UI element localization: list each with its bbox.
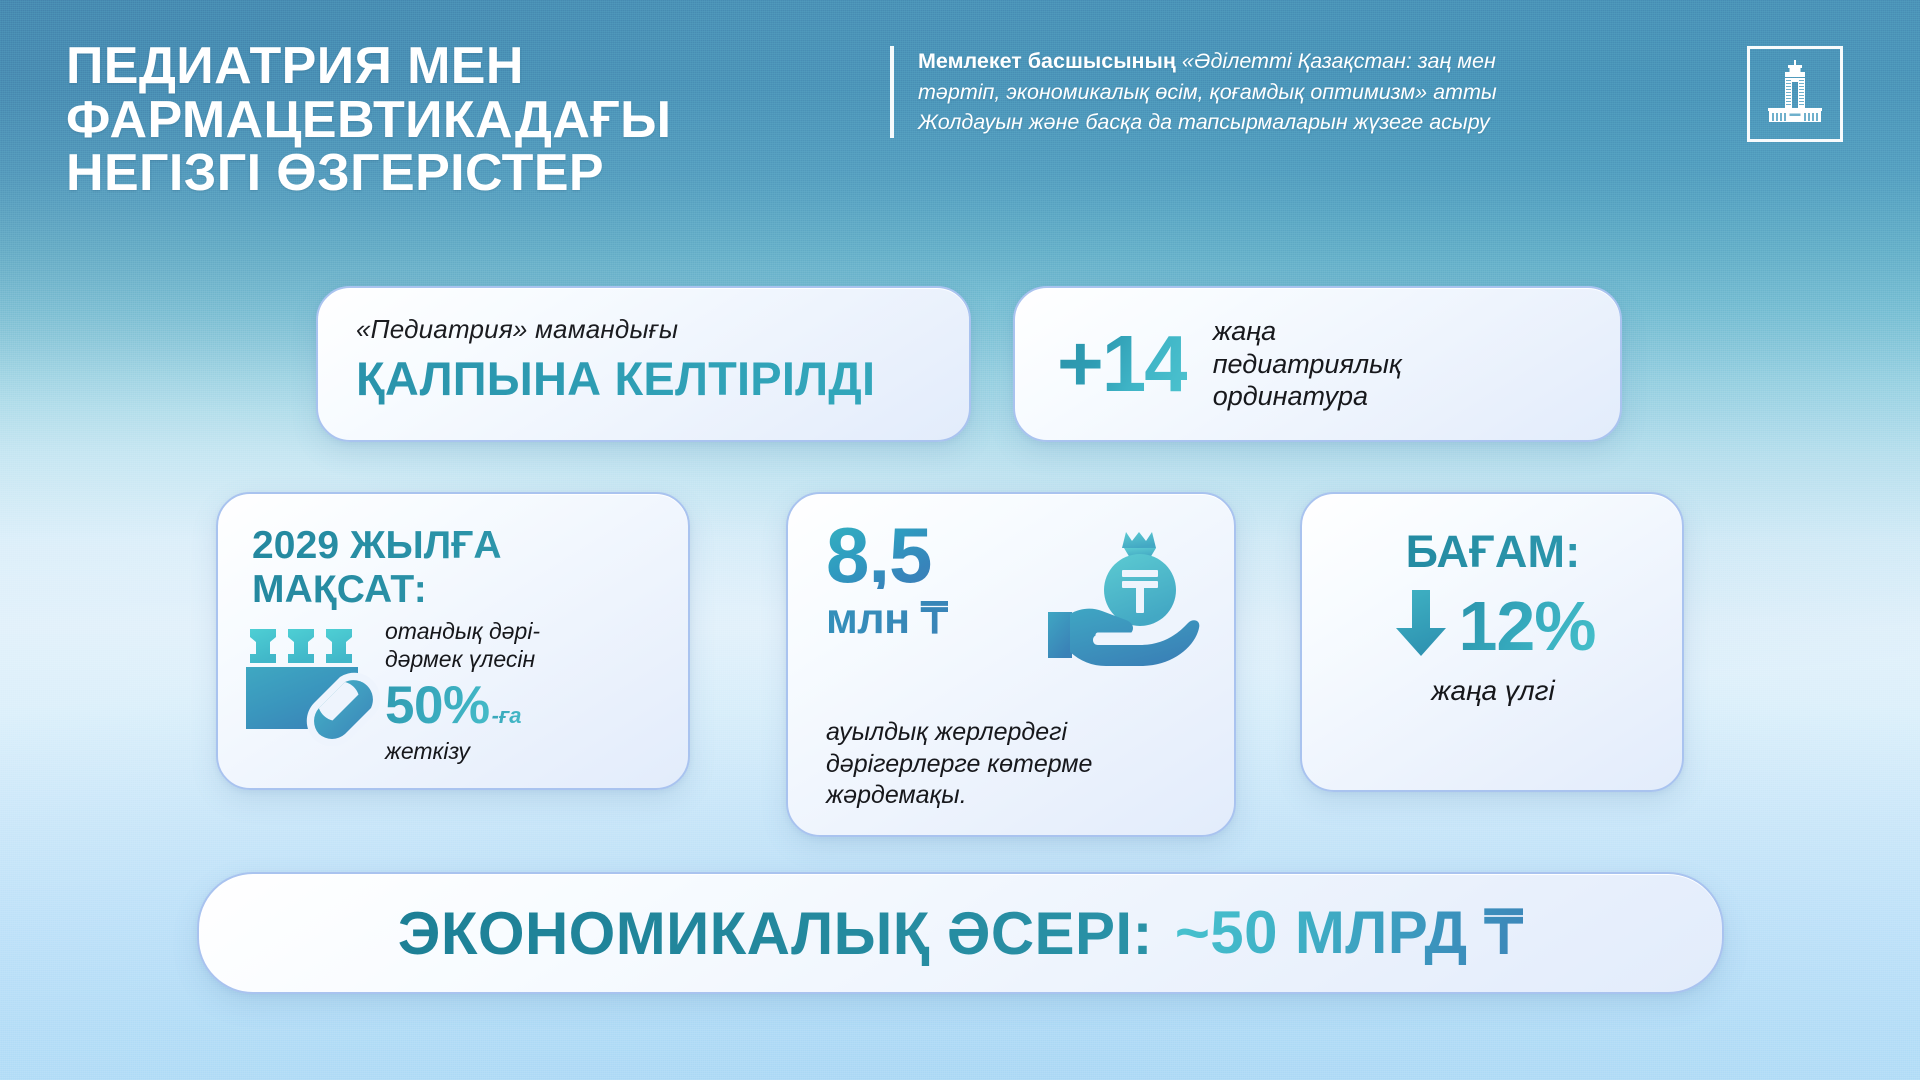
payment-description: ауылдық жерлердегі дәрігерлерге көтерме …: [826, 717, 1204, 812]
goal-description: отандық дәрі- дәрмек үлесін: [385, 617, 625, 673]
card-2029-goal: 2029 ЖЫЛҒА МАҚСАТ:: [216, 492, 690, 790]
speciality-kicker: «Педиатрия» мамандығы: [356, 314, 935, 345]
goal-percent-suffix: -ға: [492, 703, 522, 729]
goal-percent-value: 50%: [385, 675, 490, 736]
header-note-bold: Мемлекет басшысының: [918, 49, 1176, 73]
card-economic-impact: ЭКОНОМИКАЛЫҚ ӘСЕРІ: ~50 МЛРД ₸: [197, 872, 1724, 994]
goal-text-block: отандық дәрі- дәрмек үлесін 50% -ға жетк…: [385, 617, 625, 765]
card-pediatrics-speciality: «Педиатрия» мамандығы ҚАЛПЫНА КЕЛТІРІЛДІ: [316, 286, 971, 442]
card-residency-places: +14 жаңа педиатриялық ординатура: [1013, 286, 1622, 442]
hand-money-bag-tenge-icon: [1040, 528, 1200, 685]
impact-label: ЭКОНОМИКАЛЫҚ ӘСЕРІ:: [398, 899, 1153, 968]
payment-amount: 8,5: [826, 522, 948, 589]
payment-figure: 8,5 млн ₸: [826, 522, 948, 642]
rate-footer: жаңа үлгі: [1332, 675, 1654, 707]
page-title: ПЕДИАТРИЯ МЕН ФАРМАЦЕВТИКАДАҒЫ НЕГІЗГІ Ө…: [66, 40, 672, 201]
rate-value: 12%: [1458, 591, 1595, 661]
payment-top-row: 8,5 млн ₸: [826, 522, 1204, 685]
residency-number: +14: [1057, 328, 1187, 400]
card-exchange-rate: БАҒАМ: 12% жаңа үлгі: [1300, 492, 1684, 792]
impact-value: ~50 МЛРД ₸: [1175, 898, 1523, 968]
goal-footer: жеткізу: [385, 738, 625, 765]
speciality-headline: ҚАЛПЫНА КЕЛТІРІЛДІ: [356, 351, 935, 406]
goal-body: отандық дәрі- дәрмек үлесін 50% -ға жетк…: [252, 617, 660, 767]
goal-title: 2029 ЖЫЛҒА МАҚСАТ:: [252, 524, 660, 611]
medicine-vials-pill-icon: [244, 623, 386, 755]
rate-row: 12%: [1332, 586, 1654, 665]
header-note: Мемлекет басшысының «Әділетті Қазақстан:…: [890, 46, 1550, 138]
header: ПЕДИАТРИЯ МЕН ФАРМАЦЕВТИКАДАҒЫ НЕГІЗГІ Ө…: [0, 0, 1920, 230]
rate-title: БАҒАМ:: [1332, 526, 1654, 578]
government-building-emblem: [1747, 46, 1843, 142]
payment-unit: млн ₸: [826, 597, 948, 642]
arrow-down-icon: [1390, 586, 1452, 665]
goal-percent-row: 50% -ға: [385, 675, 625, 736]
residency-label: жаңа педиатриялық ординатура: [1213, 315, 1402, 414]
card-rural-doctor-payment: 8,5 млн ₸: [786, 492, 1236, 837]
